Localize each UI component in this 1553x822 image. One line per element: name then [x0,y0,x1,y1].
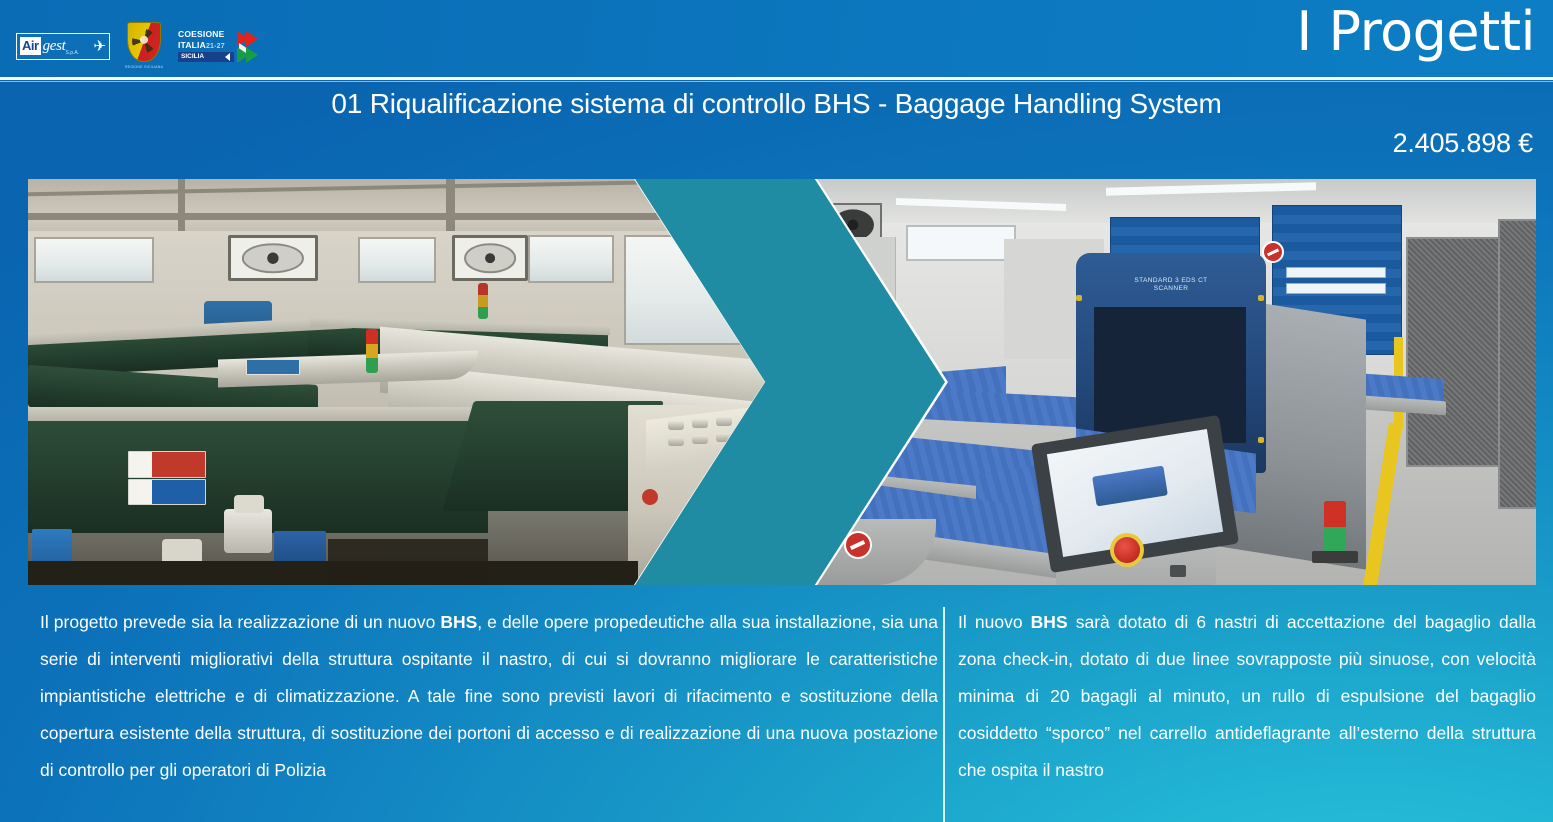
trinacria-shield-icon [127,22,161,62]
regione-siciliana-logo: REGIONE SICILIANA [124,22,164,70]
slide-root: Air gest S.p.A. ✈ REGIONE SICILIANA COES… [0,0,1553,822]
coesione-italia-logo: COESIONE ITALIA21-27 SICILIA [178,29,271,63]
description-right: Il nuovo BHS sarà dotato di 6 nastri di … [958,604,1536,789]
media-band: STANDARD 3 EDS CTSCANNER [28,179,1536,585]
coesione-line2-text: ITALIA [178,40,206,50]
coesione-region-badge-label: SICILIA [181,53,204,60]
coesione-line2: ITALIA21-27 [178,41,234,50]
airgest-logo-spa: S.p.A. [66,50,80,56]
description-left: Il progetto prevede sia la realizzazione… [40,604,938,789]
coesione-region-badge: SICILIA [178,52,234,63]
header-divider-rule [0,77,1553,80]
airgest-logo: Air gest S.p.A. ✈ [16,33,110,60]
chevron-left-icon [225,53,230,61]
project-subtitle: 01 Riqualificazione sistema di controllo… [0,88,1553,120]
project-amount: 2.405.898 € [1393,128,1533,159]
airgest-logo-gest: gest [43,39,66,54]
regione-siciliana-caption: REGIONE SICILIANA [125,65,163,69]
airplane-icon: ✈ [93,39,106,54]
column-divider [943,607,945,822]
body-columns: Il progetto prevede sia la realizzazione… [0,604,1553,822]
logo-row: Air gest S.p.A. ✈ REGIONE SICILIANA COES… [16,24,271,68]
header-divider-rule-thin [0,81,1553,82]
coesione-chevron-mark-icon [237,29,271,63]
trinacria-symbol-icon [132,29,156,53]
coesione-line1: COESIONE [178,30,234,39]
coesione-text-block: COESIONE ITALIA21-27 SICILIA [178,30,234,62]
coesione-years: 21-27 [206,43,225,50]
page-title: I Progetti [1296,2,1535,61]
airgest-logo-air: Air [20,37,41,55]
